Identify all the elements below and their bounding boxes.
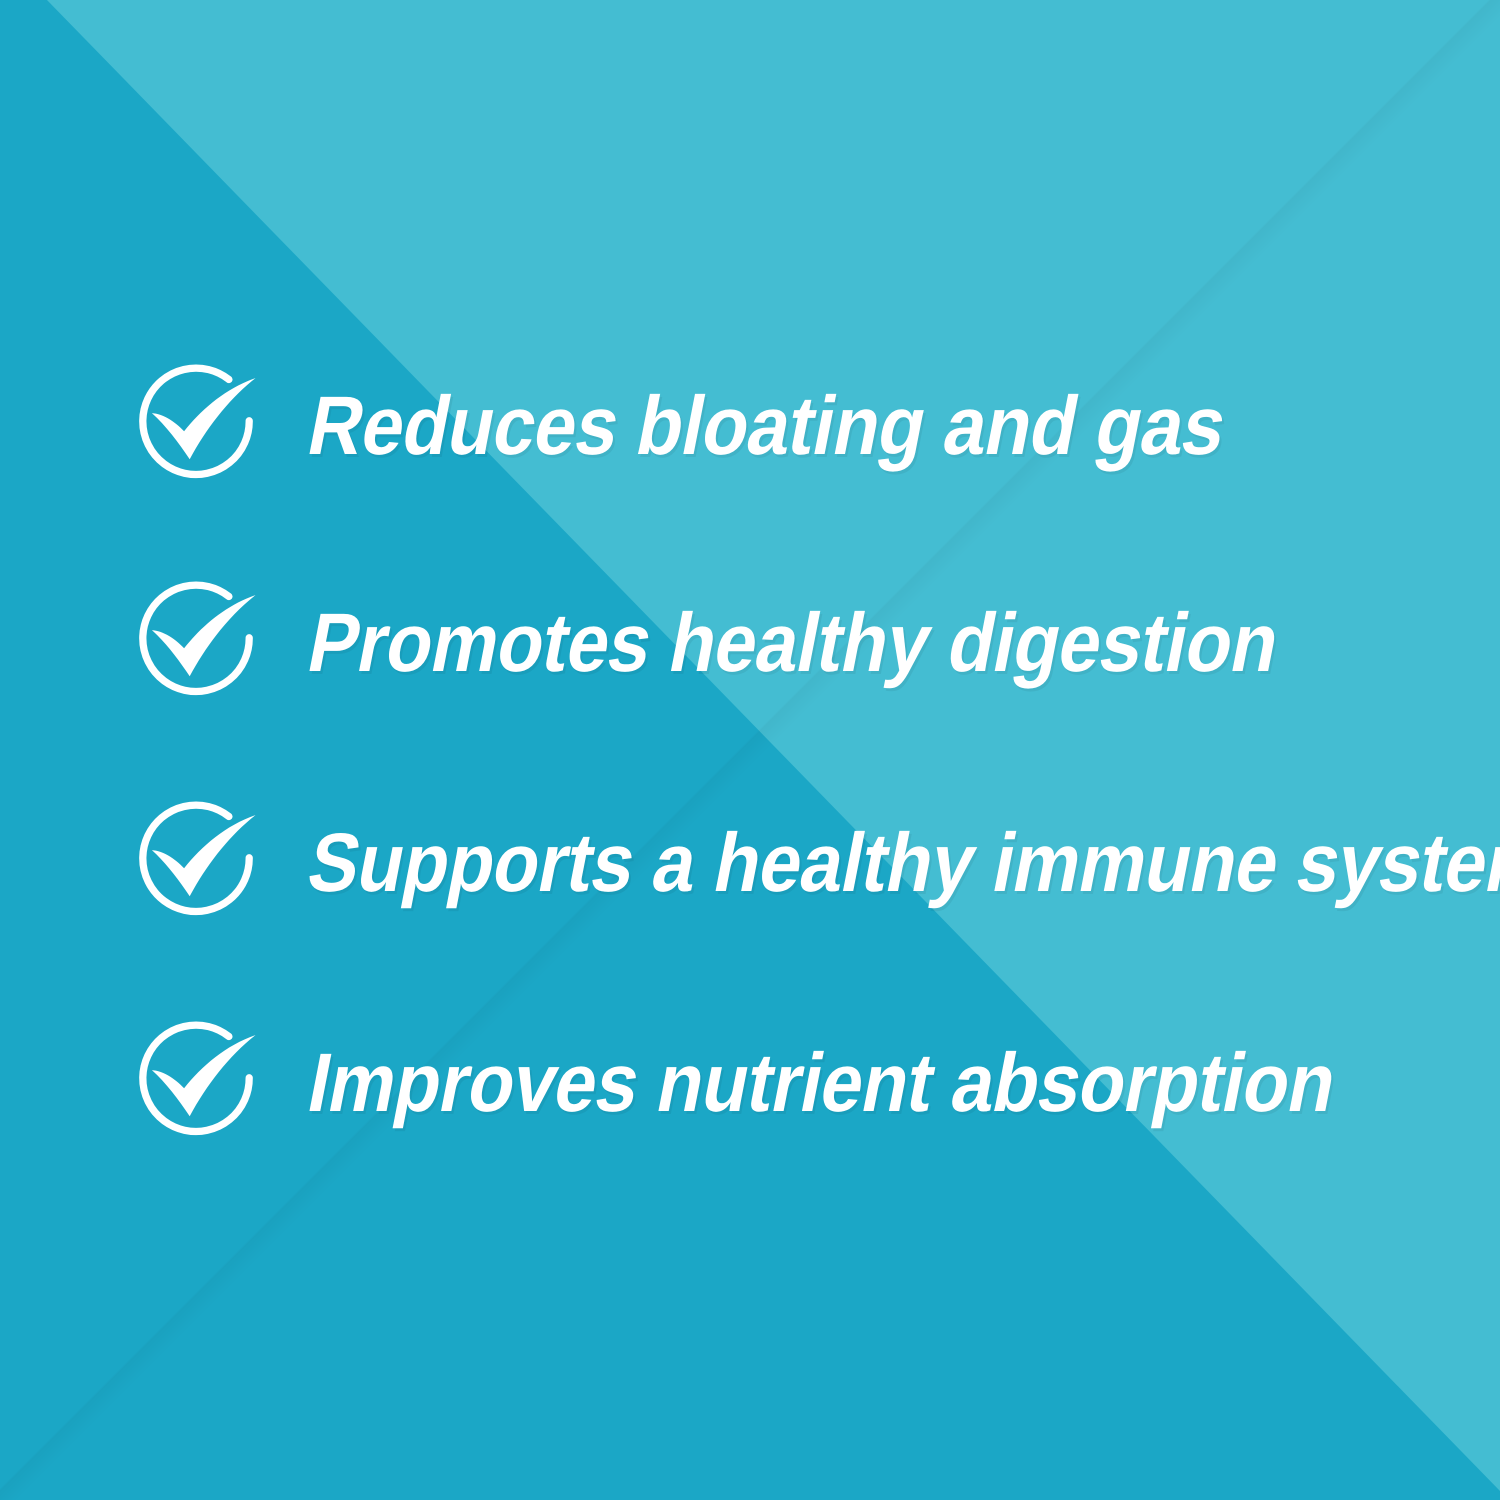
benefit-item: Supports a healthy immune system [126, 792, 1500, 932]
benefit-item: Reduces bloating and gas [126, 355, 1326, 495]
check-circle-icon [126, 1012, 266, 1152]
benefit-item: Improves nutrient absorption [126, 1012, 1449, 1152]
benefit-item: Promotes healthy digestion [126, 572, 1385, 712]
benefit-label: Supports a healthy immune system [302, 821, 1500, 904]
benefit-label: Promotes healthy digestion [302, 601, 1286, 684]
check-circle-icon [126, 792, 266, 932]
check-circle-icon [126, 572, 266, 712]
benefit-label: Reduces bloating and gas [302, 384, 1233, 467]
benefits-list: Reduces bloating and gas Promotes health… [0, 0, 1500, 1500]
check-circle-icon [126, 355, 266, 495]
benefit-label: Improves nutrient absorption [302, 1041, 1343, 1124]
product-benefits-panel: Reduces bloating and gas Promotes health… [0, 0, 1500, 1500]
